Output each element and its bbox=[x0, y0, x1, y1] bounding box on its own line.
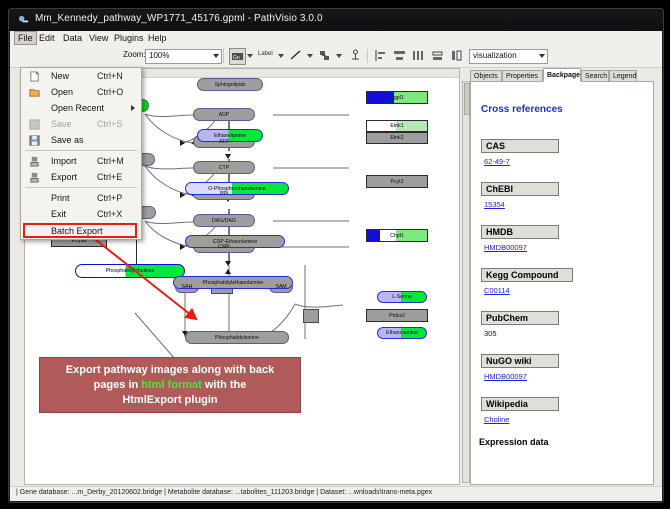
xref-header-kegg: Kegg Compound bbox=[481, 268, 573, 282]
menu-item-batch-export[interactable]: Batch Export bbox=[21, 222, 141, 239]
arrowhead-atp-r bbox=[180, 140, 185, 146]
node-etnk1[interactable]: Etnk1 bbox=[366, 120, 428, 132]
menu-item-export-accel: Ctrl+E bbox=[97, 172, 122, 182]
node-label: Phosphatidylcholines bbox=[106, 268, 155, 274]
menu-edit[interactable]: Edit bbox=[36, 32, 58, 44]
annot-line1: Export pathway images along with back bbox=[66, 364, 274, 376]
window-title: Mm_Kennedy_pathway_WP1771_45176.gpml - P… bbox=[35, 13, 323, 24]
menu-separator-1 bbox=[25, 150, 137, 151]
annot-line2a: pages in bbox=[94, 379, 142, 391]
menu-item-open-recent[interactable]: Open Recent bbox=[21, 100, 141, 116]
xref-value-nugo[interactable]: HMDB00097 bbox=[484, 372, 527, 381]
node-sphingolipids[interactable]: Sphingolipids bbox=[197, 78, 263, 91]
title-bar: Mm_Kennedy_pathway_WP1771_45176.gpml - P… bbox=[9, 9, 663, 32]
menu-view[interactable]: View bbox=[86, 32, 111, 44]
xref-value-cas[interactable]: 62-49-7 bbox=[484, 157, 510, 166]
arrowhead-ppi-r bbox=[180, 192, 185, 198]
node-label: Sphingolipids bbox=[215, 82, 246, 88]
node-chpt1[interactable]: Chpt1 bbox=[366, 229, 428, 242]
interaction-dropdown-icon[interactable] bbox=[336, 54, 342, 58]
node-ctp[interactable]: CTP bbox=[193, 161, 255, 174]
node-label: O-Phosphoethanolamine bbox=[208, 186, 265, 192]
node-ethanolamine[interactable]: Ethanolamine bbox=[197, 129, 263, 142]
xref-value-wikipedia[interactable]: Choline bbox=[484, 415, 509, 424]
menu-item-save-as[interactable]: Save as bbox=[21, 132, 141, 148]
menu-file[interactable]: File bbox=[14, 31, 37, 45]
svg-text:Gn: Gn bbox=[233, 55, 240, 61]
node-label: DAG/DAG bbox=[212, 218, 236, 224]
submenu-chevron-icon bbox=[131, 105, 135, 111]
pathvisio-icon bbox=[18, 15, 29, 26]
xref-header-cas: CAS bbox=[481, 139, 559, 153]
screenshot-root: Mm_Kennedy_pathway_WP1771_45176.gpml - P… bbox=[0, 0, 670, 509]
chevron-down-icon-2 bbox=[539, 54, 545, 58]
annot-highlight: html format bbox=[141, 379, 202, 391]
tool-bar: Zoom: 100% Gn Label visualization bbox=[10, 45, 662, 68]
node-label: Ethanolamine bbox=[214, 133, 246, 139]
status-bar: | Gene database: ...m_Derby_20120602.bri… bbox=[10, 486, 662, 501]
xref-header-nugo: NuGO wiki bbox=[481, 354, 559, 368]
node-label: SAH bbox=[182, 284, 193, 290]
menu-item-import-accel: Ctrl+M bbox=[97, 156, 124, 166]
node-label: Etnk1 bbox=[390, 123, 403, 129]
arrowhead-pe-up bbox=[225, 269, 231, 274]
node-label: L-Serine bbox=[392, 294, 412, 300]
toolbar-separator-2 bbox=[367, 49, 368, 63]
label-dropdown-icon[interactable] bbox=[278, 54, 284, 58]
side-panel: Objects Properties Backpage Search Legen… bbox=[462, 68, 658, 483]
tab-backpage[interactable]: Backpage bbox=[543, 68, 581, 82]
menu-plugins[interactable]: Plugins bbox=[111, 32, 147, 44]
export-icon bbox=[29, 172, 40, 183]
xref-header-hmdb: HMDB bbox=[481, 225, 559, 239]
backpage-content: Cross references CAS 62-49-7 ChEBI 15354… bbox=[470, 81, 654, 485]
node-label: Ptdss2 bbox=[389, 313, 405, 319]
menu-item-exit[interactable]: Exit Ctrl+X bbox=[21, 206, 141, 222]
align-left-icon[interactable] bbox=[373, 48, 388, 63]
node-label: ATP bbox=[219, 139, 229, 145]
menu-item-new-accel: Ctrl+N bbox=[97, 71, 123, 81]
node-label: ADP bbox=[219, 112, 230, 118]
menu-data[interactable]: Data bbox=[60, 32, 85, 44]
zoom-value: 100% bbox=[149, 51, 169, 60]
file-menu-popup[interactable]: New Ctrl+N Open Ctrl+O Open Recent Save … bbox=[20, 67, 142, 240]
application-body: File Edit Data View Plugins Help Zoom: 1… bbox=[10, 31, 662, 501]
node-o-phosphoethanolamine[interactable]: O-Phosphoethanolamine bbox=[185, 182, 289, 195]
menu-item-exit-label: Exit bbox=[51, 209, 66, 219]
node-label: Ethanolamine bbox=[386, 330, 418, 336]
menu-item-new-label: New bbox=[51, 71, 69, 81]
menu-item-import-label: Import bbox=[51, 156, 77, 166]
menu-item-open-recent-label: Open Recent bbox=[51, 103, 104, 113]
menu-item-open[interactable]: Open Ctrl+O bbox=[21, 84, 141, 100]
datanode-tool-button[interactable]: Gn bbox=[229, 48, 246, 65]
visualization-combo[interactable]: visualization bbox=[469, 49, 548, 64]
zoom-combo[interactable]: 100% bbox=[145, 49, 222, 64]
node-ethanolamine-2[interactable]: Ethanolamine bbox=[377, 327, 427, 339]
node-sgpl1[interactable]: Sgpl1 bbox=[366, 91, 428, 104]
node-anchor-box[interactable] bbox=[303, 309, 319, 323]
node-label: Sgpl1 bbox=[390, 95, 403, 101]
node-phosphatidylcholines[interactable]: Phosphatidylcholines bbox=[75, 264, 185, 278]
node-label: Chpt1 bbox=[390, 233, 404, 239]
toolbar-separator bbox=[223, 49, 224, 63]
menu-item-import[interactable]: Import Ctrl+M bbox=[21, 153, 141, 169]
zoom-label: Zoom: bbox=[123, 50, 146, 59]
new-file-icon bbox=[29, 71, 40, 82]
chevron-down-icon bbox=[213, 54, 219, 58]
menu-item-save-as-label: Save as bbox=[51, 135, 84, 145]
xref-value-chebi[interactable]: 15354 bbox=[484, 200, 505, 209]
panel-scrollbar[interactable] bbox=[462, 81, 470, 483]
application-window: Mm_Kennedy_pathway_WP1771_45176.gpml - P… bbox=[8, 8, 664, 503]
same-size-icon[interactable] bbox=[430, 48, 445, 63]
menu-help[interactable]: Help bbox=[145, 32, 170, 44]
xref-header-wikipedia: Wikipedia bbox=[481, 397, 559, 411]
node-l-serine[interactable]: L-Serine bbox=[377, 291, 427, 303]
node-label: CTP bbox=[219, 165, 229, 171]
visualization-value: visualization bbox=[473, 51, 517, 60]
node-label: Etnk2 bbox=[390, 135, 403, 141]
menu-item-save-label: Save bbox=[51, 119, 72, 129]
menu-item-save: Save Ctrl+S bbox=[21, 116, 141, 132]
node-cdp-ethanolamine[interactable]: CDP-Ethanolamine bbox=[185, 235, 285, 248]
distribute-icon[interactable] bbox=[411, 48, 426, 63]
node-label: Phosphatidylserine bbox=[215, 335, 259, 341]
line-tool-icon[interactable] bbox=[288, 48, 303, 63]
node-adp[interactable]: ADP bbox=[193, 108, 255, 121]
annotation-callout: Export pathway images along with back pa… bbox=[39, 357, 301, 413]
import-icon bbox=[29, 156, 40, 167]
menu-item-batch-export-label: Batch Export bbox=[51, 226, 103, 236]
menu-item-export-label: Export bbox=[51, 172, 77, 182]
menu-item-print-accel: Ctrl+P bbox=[97, 193, 122, 203]
menu-item-export[interactable]: Export Ctrl+E bbox=[21, 169, 141, 185]
panel-tab-strip: Objects Properties Backpage Search Legen… bbox=[470, 68, 658, 82]
xref-value-pubchem: 305 bbox=[484, 329, 497, 338]
annot-line2b: with the bbox=[202, 379, 247, 391]
status-text: | Gene database: ...m_Derby_20120602.bri… bbox=[16, 489, 432, 496]
menu-item-print[interactable]: Print Ctrl+P bbox=[21, 190, 141, 206]
node-label: Phosphatidylethanolamine bbox=[203, 280, 264, 286]
datanode-dropdown-icon[interactable] bbox=[247, 54, 253, 58]
expression-data-title: Expression data bbox=[479, 437, 549, 447]
menu-item-open-label: Open bbox=[51, 87, 73, 97]
open-folder-icon bbox=[29, 87, 40, 98]
label-tool-text[interactable]: Label bbox=[258, 51, 273, 57]
node-dagdag[interactable]: DAG/DAG bbox=[193, 214, 255, 227]
menu-item-exit-accel: Ctrl+X bbox=[97, 209, 122, 219]
annot-line3: HtmlExport plugin bbox=[122, 394, 217, 406]
align-center-icon[interactable] bbox=[392, 48, 407, 63]
menu-item-new[interactable]: New Ctrl+N bbox=[21, 68, 141, 84]
cross-references-title: Cross references bbox=[481, 104, 563, 115]
xref-value-hmdb[interactable]: HMDB00097 bbox=[484, 243, 527, 252]
save-as-icon bbox=[29, 135, 40, 146]
xref-value-kegg[interactable]: C00114 bbox=[484, 286, 510, 295]
stack-icon[interactable] bbox=[449, 48, 464, 63]
anchor-tool-icon[interactable] bbox=[348, 48, 363, 63]
save-icon bbox=[29, 119, 40, 130]
menu-item-save-accel: Ctrl+S bbox=[97, 119, 122, 129]
line-dropdown-icon[interactable] bbox=[307, 54, 313, 58]
node-pcyt2[interactable]: Pcyt2 bbox=[366, 175, 428, 188]
node-etnk2[interactable]: Etnk2 bbox=[366, 132, 428, 144]
node-ptdss2[interactable]: Ptdss2 bbox=[366, 309, 428, 322]
xref-header-pubchem: PubChem bbox=[481, 311, 559, 325]
menu-item-open-accel: Ctrl+O bbox=[97, 87, 123, 97]
node-label: SAM bbox=[275, 284, 286, 290]
interaction-tool-icon[interactable] bbox=[317, 48, 332, 63]
node-phosphatidylserine[interactable]: Phosphatidylserine bbox=[185, 331, 289, 344]
menu-item-print-label: Print bbox=[51, 193, 70, 203]
menu-bar: File Edit Data View Plugins Help bbox=[10, 31, 662, 46]
arrowhead-cmp-r bbox=[180, 244, 185, 250]
node-label: CDP-Ethanolamine bbox=[213, 239, 257, 245]
xref-header-chebi: ChEBI bbox=[481, 182, 559, 196]
menu-separator-2 bbox=[25, 187, 137, 188]
node-label: Pcyt2 bbox=[391, 179, 404, 185]
